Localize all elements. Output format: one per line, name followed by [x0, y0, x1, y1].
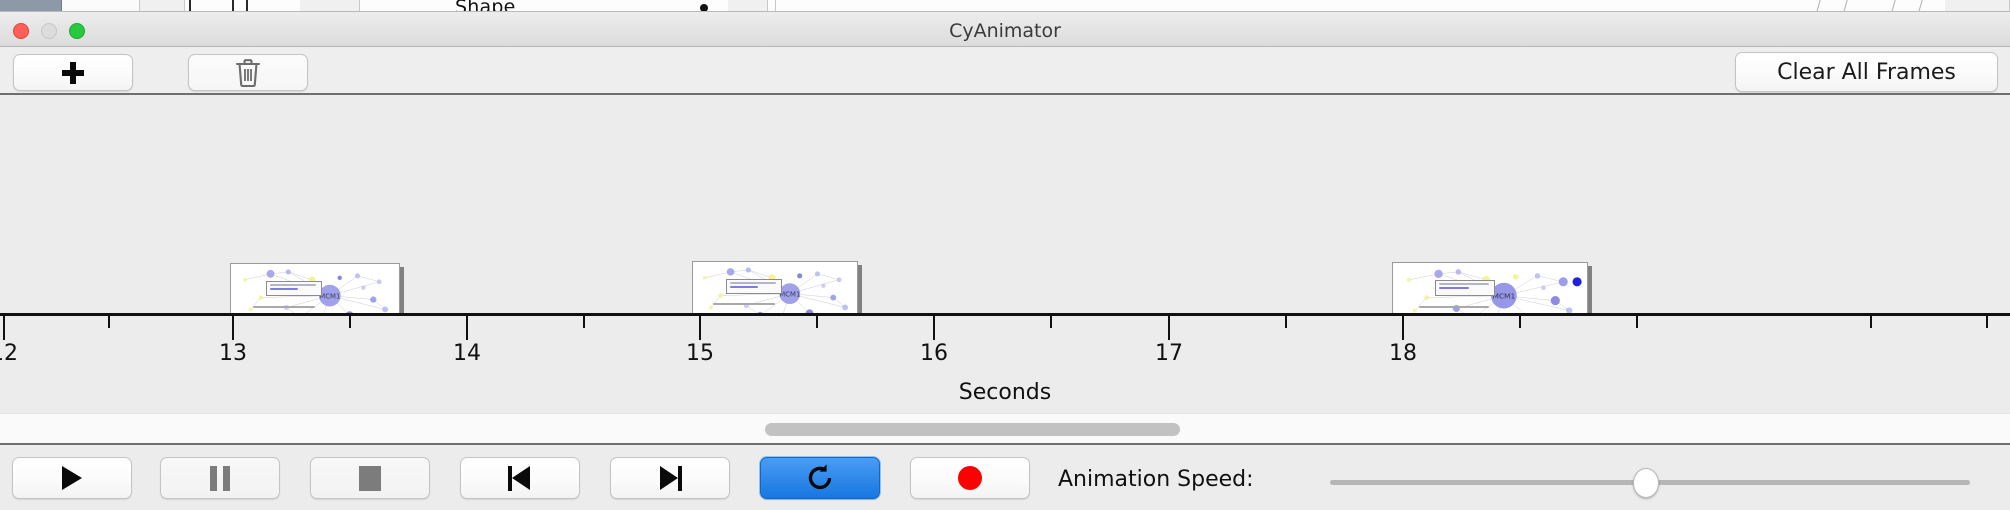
background-app-word: Shape [455, 0, 516, 12]
timeline-scrollbar[interactable] [0, 413, 2010, 445]
stop-icon [359, 466, 381, 491]
frame-toolbar: Clear All Frames [0, 47, 2010, 95]
frame-thumbnail[interactable]: MCM1 [230, 263, 400, 313]
play-button[interactable] [12, 457, 132, 499]
major-tick [1168, 316, 1170, 340]
svg-text:MCM1: MCM1 [1493, 292, 1516, 301]
major-tick [466, 316, 468, 340]
record-icon [958, 466, 982, 490]
svg-text:MCM1: MCM1 [319, 293, 340, 301]
tick-label: 15 [686, 341, 714, 366]
minor-tick [1050, 316, 1052, 328]
background-app-strip: Shape [0, 0, 2010, 12]
previous-frame-button[interactable] [460, 457, 580, 499]
frame-caption [1419, 306, 1489, 308]
delete-frame-button[interactable] [188, 54, 308, 91]
pause-button[interactable] [160, 457, 280, 499]
tick-label: 17 [1155, 341, 1183, 366]
trash-icon [235, 58, 261, 88]
transport-bar: Animation Speed: [0, 445, 2010, 510]
skip-forward-icon [658, 466, 682, 491]
minor-tick [583, 316, 585, 328]
minor-tick [1636, 316, 1638, 328]
axis-title: Seconds [0, 380, 2010, 405]
loop-button[interactable] [760, 457, 880, 499]
timeline-ruler[interactable]: 12 13 14 15 16 17 18 Seconds [0, 313, 2010, 413]
record-button[interactable] [910, 457, 1030, 499]
major-tick [699, 316, 701, 340]
minor-tick [1986, 316, 1988, 328]
svg-text:MCM1: MCM1 [779, 291, 800, 299]
pause-icon [210, 466, 230, 491]
loop-icon [805, 463, 835, 493]
minor-tick [1285, 316, 1287, 328]
cyanimator-window: Shape CyAnimator [0, 0, 2010, 510]
major-tick [3, 316, 5, 340]
slider-thumb[interactable] [1633, 468, 1659, 498]
stop-button[interactable] [310, 457, 430, 499]
clear-all-frames-button[interactable]: Clear All Frames [1735, 52, 1998, 92]
node-tooltip [1435, 280, 1495, 296]
tick-label: 13 [219, 341, 247, 366]
minor-tick [1519, 316, 1521, 328]
minor-tick [816, 316, 818, 328]
animation-speed-label: Animation Speed: [1058, 467, 1254, 492]
animation-speed-slider[interactable] [1330, 480, 1970, 485]
tick-label: 16 [920, 341, 948, 366]
major-tick [1402, 316, 1404, 340]
frame-caption [713, 303, 775, 305]
tick-label: 14 [453, 341, 481, 366]
minor-tick [349, 316, 351, 328]
node [267, 270, 275, 278]
add-frame-button[interactable] [13, 54, 133, 91]
clear-all-frames-label: Clear All Frames [1777, 60, 1956, 85]
minor-tick [1870, 316, 1872, 328]
tick-label: 12 [0, 341, 18, 366]
frame-thumbnail[interactable]: MCM1 [1392, 262, 1588, 313]
frame-thumbnail[interactable]: MCM1 [692, 261, 858, 313]
scrollbar-thumb[interactable] [765, 423, 1180, 436]
minor-tick [108, 316, 110, 328]
skip-back-icon [508, 466, 532, 491]
frame-caption [253, 306, 315, 308]
node-tooltip [266, 281, 322, 296]
plus-icon [61, 61, 85, 85]
window-title: CyAnimator [0, 20, 2010, 42]
major-tick [232, 316, 234, 340]
node-tooltip [726, 279, 782, 294]
frames-track[interactable]: MCM1 [0, 95, 2010, 313]
tick-label: 18 [1389, 341, 1417, 366]
next-frame-button[interactable] [610, 457, 730, 499]
axis-line [0, 313, 2010, 316]
major-tick [933, 316, 935, 340]
title-bar[interactable]: CyAnimator [0, 12, 2010, 47]
play-icon [62, 466, 82, 490]
